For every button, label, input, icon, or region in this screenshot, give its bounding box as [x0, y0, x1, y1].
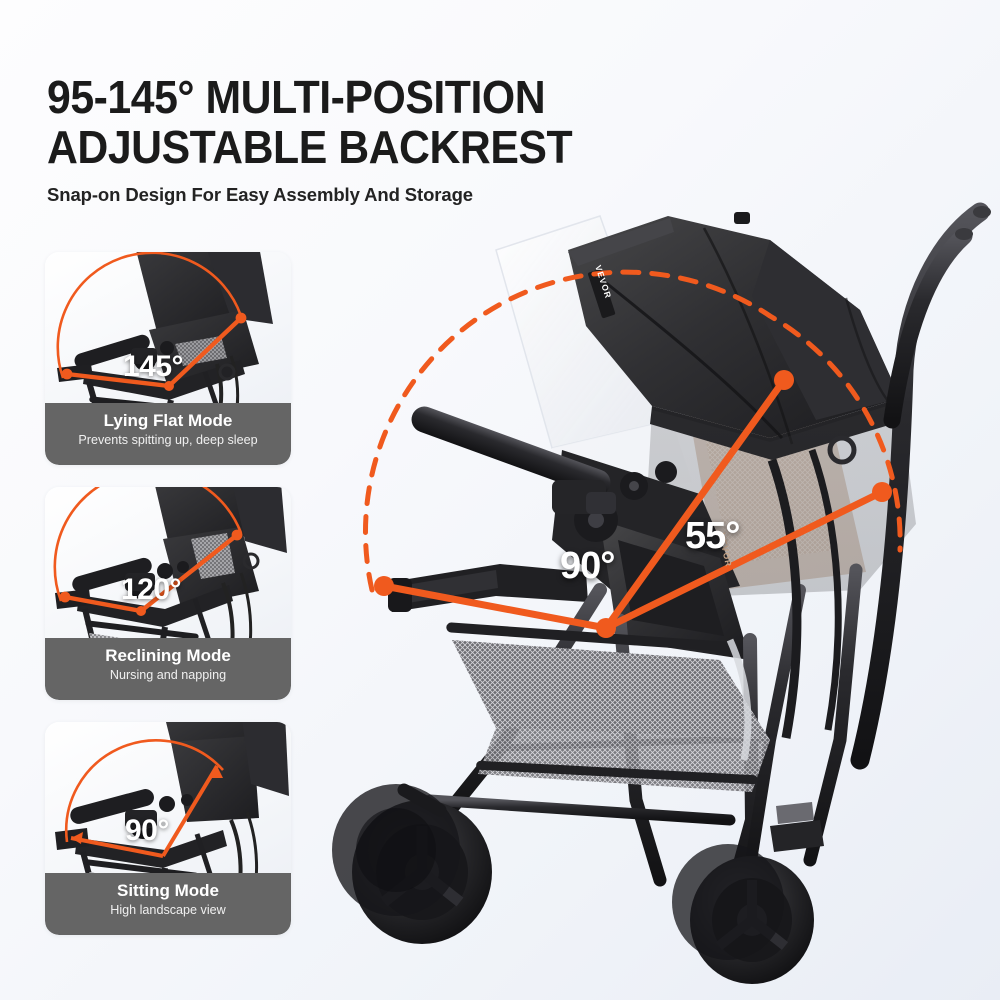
card-title-reclining: Reclining Mode — [45, 645, 291, 667]
card-caption-sitting: Sitting Mode High landscape view — [45, 873, 291, 935]
card-caption-lying-flat: Lying Flat Mode Prevents spitting up, de… — [45, 403, 291, 465]
card-subtitle-reclining: Nursing and napping — [45, 667, 291, 684]
angle-vertex — [596, 618, 616, 638]
angle-endpoint-back — [872, 482, 892, 502]
card-angle-value-90: 90° — [125, 814, 169, 848]
headline-line-1: 95-145° MULTI-POSITION — [47, 72, 624, 122]
card-title-sitting: Sitting Mode — [45, 880, 291, 902]
mode-card-sitting[interactable]: 90° Sitting Mode High landscape view — [45, 722, 291, 935]
mode-card-lying-flat[interactable]: 145° Lying Flat Mode Prevents spitting u… — [45, 252, 291, 465]
angle-endpoint-front — [374, 576, 394, 596]
card-angle-value-120: 120° — [121, 573, 181, 607]
hero-product-image: 90° 55° VEVOR VEVOR — [300, 120, 1000, 1000]
angle-endpoint-top — [774, 370, 794, 390]
card-subtitle-sitting: High landscape view — [45, 902, 291, 919]
mode-card-list: 145° Lying Flat Mode Prevents spitting u… — [45, 252, 291, 957]
product-feature-banner: 95-145° MULTI-POSITION ADJUSTABLE BACKRE… — [0, 0, 1000, 1000]
hero-angle-label-seat: 90° — [560, 545, 614, 588]
card-subtitle-lying-flat: Prevents spitting up, deep sleep — [45, 432, 291, 449]
hero-angle-label-backrest: 55° — [685, 515, 739, 558]
card-caption-reclining: Reclining Mode Nursing and napping — [45, 638, 291, 700]
storage-basket — [446, 622, 770, 792]
stroller-main-illustration — [300, 120, 1000, 1000]
card-angle-value-145: 145° — [123, 350, 183, 384]
card-title-lying-flat: Lying Flat Mode — [45, 410, 291, 432]
mode-card-reclining[interactable]: 120° Reclining Mode Nursing and napping — [45, 487, 291, 700]
